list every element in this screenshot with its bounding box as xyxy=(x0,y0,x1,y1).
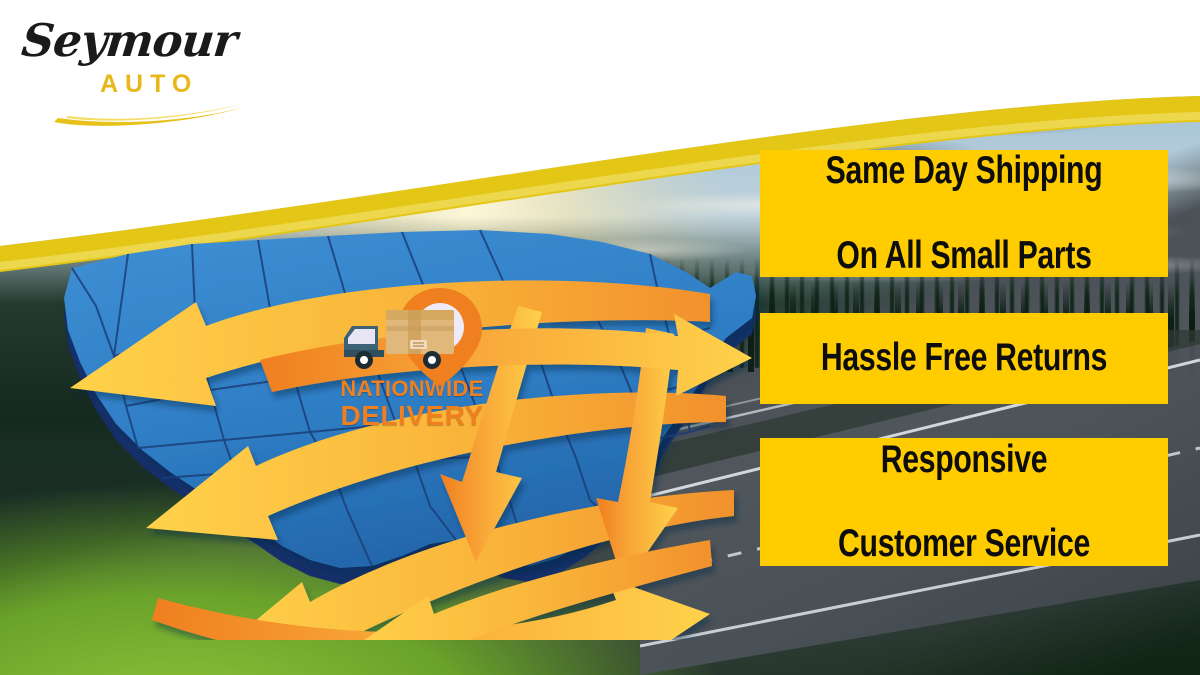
claim-line-2: Customer Service xyxy=(806,523,1122,565)
claim-line-1: Hassle Free Returns xyxy=(806,337,1122,379)
badge-caption: NATIONWIDE DELIVERY xyxy=(322,378,502,430)
claim-text: Same Day Shipping On All Small Parts xyxy=(784,150,1143,276)
claim-line-1: Same Day Shipping xyxy=(806,150,1122,192)
brand-subtitle: AUTO xyxy=(100,70,198,99)
claim-box-hassle-free-returns[interactable]: Hassle Free Returns xyxy=(760,313,1168,404)
brand-name: Seymour xyxy=(20,18,265,63)
logo-swoosh-icon xyxy=(52,96,252,130)
brand-logo[interactable]: Seymour AUTO xyxy=(22,18,262,128)
nationwide-delivery-badge: NATIONWIDE DELIVERY xyxy=(322,282,502,452)
delivery-truck-icon xyxy=(344,310,454,369)
claim-text: Hassle Free Returns xyxy=(784,337,1143,379)
claim-line-2: On All Small Parts xyxy=(806,235,1122,277)
promo-banner: Seymour AUTO xyxy=(0,0,1200,675)
claim-line-1: Responsive xyxy=(806,439,1122,481)
badge-line-1: NATIONWIDE xyxy=(322,378,502,401)
claim-text: Responsive Customer Service xyxy=(784,439,1143,565)
claim-box-responsive-customer-service[interactable]: Responsive Customer Service xyxy=(760,438,1168,566)
claim-box-same-day-shipping[interactable]: Same Day Shipping On All Small Parts xyxy=(760,150,1168,277)
badge-line-2: DELIVERY xyxy=(322,401,502,430)
